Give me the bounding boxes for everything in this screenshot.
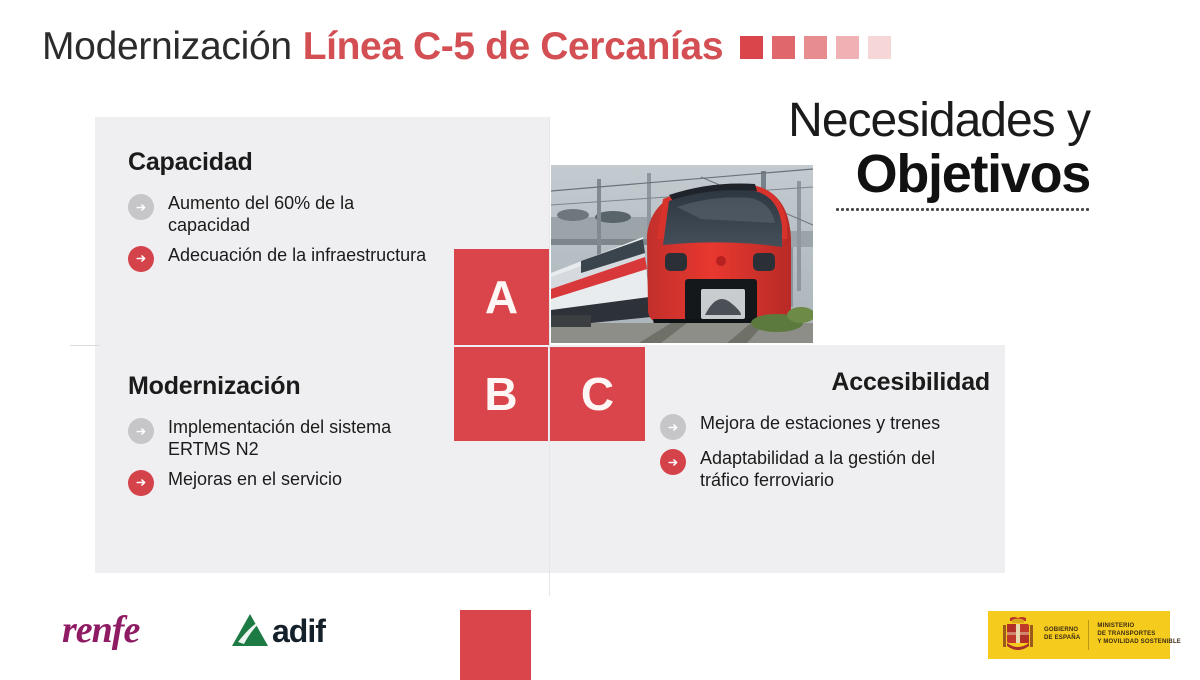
list-item-text: Adecuación de la infraestructura bbox=[168, 245, 426, 267]
gov-line-c: MINISTERIO bbox=[1097, 623, 1181, 631]
renfe-logo: renfe bbox=[62, 608, 192, 654]
block-modernizacion: Modernización Implementación del sistema… bbox=[128, 372, 428, 496]
gov-line-d: DE TRANSPORTES bbox=[1097, 631, 1181, 639]
list-item-text: Mejora de estaciones y trenes bbox=[700, 413, 940, 435]
coat-of-arms-icon bbox=[998, 615, 1038, 655]
slide-title: Modernización Línea C-5 de Cercanías bbox=[42, 25, 891, 69]
arrow-circle-icon bbox=[128, 418, 154, 444]
adif-logo: adif bbox=[228, 608, 358, 654]
section-heading-line2: Objetivos bbox=[760, 146, 1090, 202]
tile-b-letter: B bbox=[484, 371, 517, 417]
government-logo-divider bbox=[1088, 620, 1089, 650]
list-item: Implementación del sistema ERTMS N2 bbox=[128, 417, 428, 461]
block-accesibilidad-bullets: Mejora de estaciones y trenes Adaptabili… bbox=[660, 413, 990, 492]
adif-wordmark: adif bbox=[228, 608, 358, 654]
arrow-circle-icon bbox=[128, 246, 154, 272]
block-capacidad-bullets: Aumento del 60% de la capacidad Adecuaci… bbox=[128, 193, 428, 272]
list-item: Aumento del 60% de la capacidad bbox=[128, 193, 428, 237]
title-square-4 bbox=[836, 36, 859, 59]
section-heading-line1: Necesidades y bbox=[760, 96, 1090, 146]
arrow-circle-icon bbox=[128, 470, 154, 496]
block-capacidad-heading: Capacidad bbox=[128, 148, 428, 177]
list-item-text: Implementación del sistema ERTMS N2 bbox=[168, 417, 428, 461]
svg-text:adif: adif bbox=[272, 613, 326, 649]
list-item-text: Mejoras en el servicio bbox=[168, 469, 342, 491]
title-square-3 bbox=[804, 36, 827, 59]
title-accent: Línea C-5 de Cercanías bbox=[303, 25, 723, 69]
gov-line-e: Y MOVILIDAD SOSTENIBLE bbox=[1097, 639, 1181, 647]
slide-root: Modernización Línea C-5 de Cercanías bbox=[0, 0, 1200, 675]
title-plain: Modernización bbox=[42, 25, 292, 69]
tile-c-letter: C bbox=[581, 371, 614, 417]
list-item: Mejora de estaciones y trenes bbox=[660, 413, 990, 440]
list-item-text: Adaptabilidad a la gestión del tráfico f… bbox=[700, 448, 962, 492]
list-item: Adaptabilidad a la gestión del tráfico f… bbox=[660, 448, 990, 492]
list-item: Mejoras en el servicio bbox=[128, 469, 428, 496]
block-accesibilidad: Accesibilidad Mejora de estaciones y tre… bbox=[660, 368, 990, 492]
title-square-group bbox=[740, 36, 891, 59]
section-heading-dotted-rule bbox=[835, 208, 1090, 211]
block-capacidad: Capacidad Aumento del 60% de la capacida… bbox=[128, 148, 428, 272]
tile-c: C bbox=[550, 347, 645, 441]
tile-a: A bbox=[454, 249, 549, 345]
footer-accent-square bbox=[460, 610, 531, 680]
arrow-circle-icon bbox=[128, 194, 154, 220]
arrow-circle-icon bbox=[660, 414, 686, 440]
title-square-5 bbox=[868, 36, 891, 59]
title-square-1 bbox=[740, 36, 763, 59]
block-modernizacion-bullets: Implementación del sistema ERTMS N2 Mejo… bbox=[128, 417, 428, 496]
tile-a-letter: A bbox=[485, 274, 518, 320]
block-modernizacion-heading: Modernización bbox=[128, 372, 428, 401]
government-logo: GOBIERNO DE ESPAÑA MINISTERIO DE TRANSPO… bbox=[988, 611, 1170, 659]
title-square-2 bbox=[772, 36, 795, 59]
list-item-text: Aumento del 60% de la capacidad bbox=[168, 193, 428, 237]
gov-line-b: DE ESPAÑA bbox=[1044, 635, 1080, 643]
arrow-circle-icon bbox=[660, 449, 686, 475]
section-heading: Necesidades y Objetivos bbox=[760, 96, 1090, 211]
horizontal-divider bbox=[70, 345, 100, 346]
svg-text:renfe: renfe bbox=[62, 609, 140, 651]
gov-line-a: GOBIERNO bbox=[1044, 627, 1080, 635]
renfe-wordmark: renfe bbox=[62, 608, 192, 654]
government-logo-text: GOBIERNO DE ESPAÑA MINISTERIO DE TRANSPO… bbox=[1044, 620, 1181, 650]
list-item: Adecuación de la infraestructura bbox=[128, 245, 428, 272]
tile-b: B bbox=[454, 347, 548, 441]
block-accesibilidad-heading: Accesibilidad bbox=[660, 368, 990, 397]
